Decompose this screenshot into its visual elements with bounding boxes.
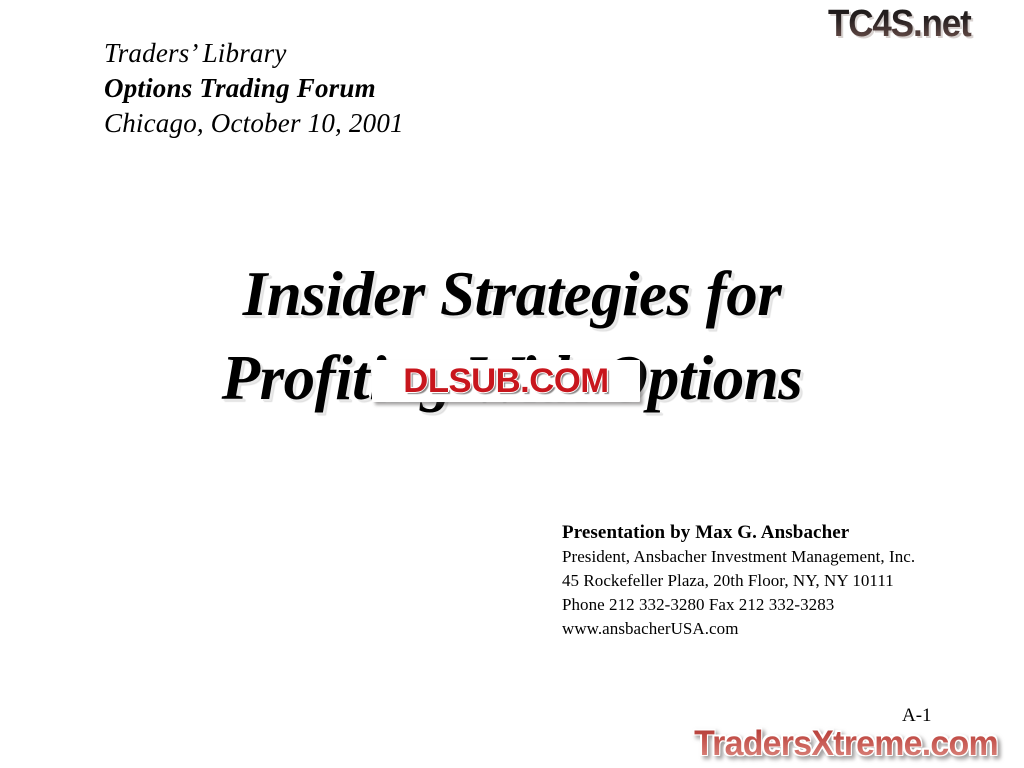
title-line-1: Insider Strategies for [0, 252, 1024, 336]
presenter-role: President, Ansbacher Investment Manageme… [562, 545, 982, 569]
header-line-organization: Traders’ Library [104, 36, 624, 71]
presenter-website: www.ansbacherUSA.com [562, 617, 982, 641]
event-header: Traders’ Library Options Trading Forum C… [104, 36, 624, 141]
tc4s-net-logo: TC4S.net [828, 2, 1003, 46]
tradersxtreme-logo-text: TradersXtreme.com [683, 722, 1009, 766]
watermark-label: DLSUB.COM [369, 360, 642, 402]
presenter-details: Presentation by Max G. Ansbacher Preside… [562, 520, 982, 641]
presenter-name: Presentation by Max G. Ansbacher [562, 520, 982, 545]
tradersxtreme-logo: TradersXtreme.com [678, 722, 1014, 766]
dlsub-watermark: DLSUB.COM [372, 360, 640, 402]
header-line-event: Options Trading Forum [104, 71, 624, 106]
presenter-address: 45 Rockefeller Plaza, 20th Floor, NY, NY… [562, 569, 982, 593]
header-line-location-date: Chicago, October 10, 2001 [104, 106, 624, 141]
presentation-slide: TC4S.net TC4S.net Traders’ Library Optio… [0, 0, 1024, 768]
presenter-phone: Phone 212 332-3280 Fax 212 332-3283 [562, 593, 982, 617]
